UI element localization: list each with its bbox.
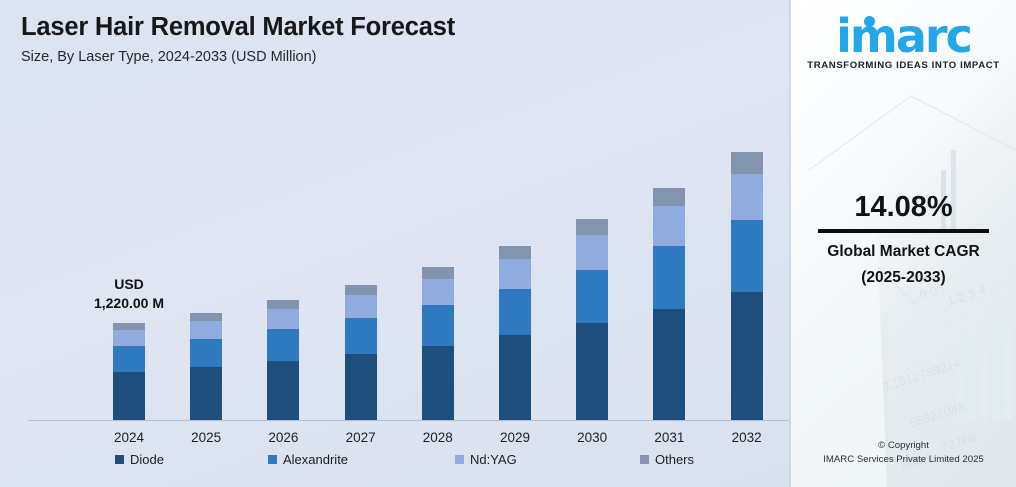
bar-segment-ndyag-2028: [422, 279, 454, 305]
bar-2031: [653, 188, 685, 420]
bar-segment-ndyag-2025: [190, 321, 222, 339]
x-tick-2032: 2032: [712, 430, 782, 445]
svg-text:58822048: 58822048: [907, 399, 967, 431]
bar-segment-diode-2029: [499, 335, 531, 420]
legend-item-alexandrite[interactable]: Alexandrite: [268, 452, 348, 467]
bar-segment-diode-2025: [190, 367, 222, 420]
cagr-divider: [818, 229, 989, 233]
bar-segment-diode-2027: [345, 354, 377, 420]
bar-segment-diode-2031: [653, 309, 685, 420]
chart-legend: DiodeAlexandriteNd:YAGOthers: [0, 452, 791, 476]
bar-segment-alexandrite-2028: [422, 305, 454, 346]
brand-panel: 0.0 1 2 3 4 0.1512789214 58822048 72768 …: [791, 0, 1016, 487]
legend-label: Diode: [130, 452, 164, 467]
copyright-line-1: © Copyright: [791, 440, 1016, 451]
bar-segment-ndyag-2031: [653, 206, 685, 246]
legend-label: Alexandrite: [283, 452, 348, 467]
x-tick-2026: 2026: [248, 430, 318, 445]
bar-segment-others-2026: [267, 300, 299, 309]
bar-2030: [576, 219, 608, 420]
x-tick-2031: 2031: [634, 430, 704, 445]
bar-segment-others-2024: [113, 323, 145, 330]
legend-item-diode[interactable]: Diode: [115, 452, 164, 467]
chart-screenshot: Laser Hair Removal Market Forecast Size,…: [0, 0, 1016, 487]
legend-swatch-icon: [115, 455, 124, 464]
legend-item-ndyag[interactable]: Nd:YAG: [455, 452, 517, 467]
bar-segment-others-2025: [190, 313, 222, 321]
bar-segment-ndyag-2026: [267, 309, 299, 329]
cagr-label: Global Market CAGR: [791, 243, 1016, 261]
bar-segment-others-2028: [422, 267, 454, 279]
bar-2027: [345, 285, 377, 420]
legend-swatch-icon: [455, 455, 464, 464]
legend-swatch-icon: [268, 455, 277, 464]
bar-segment-others-2029: [499, 246, 531, 260]
bar-segment-alexandrite-2027: [345, 318, 377, 354]
bar-2025: [190, 313, 222, 420]
bar-2028: [422, 267, 454, 420]
bar-segment-diode-2026: [267, 361, 299, 420]
bar-segment-others-2030: [576, 219, 608, 235]
bar-segment-ndyag-2032: [731, 174, 763, 220]
bar-segment-ndyag-2030: [576, 235, 608, 269]
plot-area: 2024202520262027202820292030203120322033: [0, 0, 791, 487]
callout-start-value: USD 1,220.00 M: [59, 275, 199, 313]
bar-segment-alexandrite-2024: [113, 346, 145, 372]
bar-segment-alexandrite-2031: [653, 246, 685, 308]
x-tick-2029: 2029: [480, 430, 550, 445]
legend-label: Others: [655, 452, 694, 467]
bar-segment-diode-2030: [576, 323, 608, 420]
cagr-period: (2025-2033): [791, 269, 1016, 287]
x-tick-2028: 2028: [403, 430, 473, 445]
svg-text:0.1512789214: 0.1512789214: [879, 355, 963, 395]
copyright-line-2: IMARC Services Private Limited 2025: [791, 454, 1016, 465]
legend-swatch-icon: [640, 455, 649, 464]
bar-2032: [731, 152, 763, 420]
bar-segment-ndyag-2027: [345, 295, 377, 318]
bar-segment-ndyag-2029: [499, 259, 531, 289]
bar-segment-diode-2032: [731, 292, 763, 420]
bar-segment-alexandrite-2026: [267, 329, 299, 361]
bar-segment-alexandrite-2029: [499, 289, 531, 335]
bar-segment-others-2027: [345, 285, 377, 295]
legend-item-others[interactable]: Others: [640, 452, 694, 467]
brand-logo: imarc TRANSFORMING IDEAS INTO IMPACT: [791, 10, 1016, 71]
bar-segment-diode-2024: [113, 372, 145, 420]
x-tick-2027: 2027: [326, 430, 396, 445]
x-tick-2025: 2025: [171, 430, 241, 445]
bar-segment-diode-2028: [422, 346, 454, 420]
cagr-value: 14.08%: [791, 191, 1016, 224]
x-tick-2030: 2030: [557, 430, 627, 445]
legend-label: Nd:YAG: [470, 452, 517, 467]
x-axis-line: [28, 420, 793, 421]
bar-2026: [267, 300, 299, 420]
bar-segment-alexandrite-2032: [731, 220, 763, 292]
bar-segment-others-2032: [731, 152, 763, 174]
bar-segment-others-2031: [653, 188, 685, 206]
bar-segment-alexandrite-2030: [576, 270, 608, 324]
logo-wordmark: imarc: [836, 10, 971, 62]
bar-2024: [113, 323, 145, 420]
bar-2029: [499, 246, 531, 420]
bar-segment-alexandrite-2025: [190, 339, 222, 368]
bar-segment-ndyag-2024: [113, 330, 145, 346]
x-tick-2024: 2024: [94, 430, 164, 445]
chart-panel: Laser Hair Removal Market Forecast Size,…: [0, 0, 791, 487]
